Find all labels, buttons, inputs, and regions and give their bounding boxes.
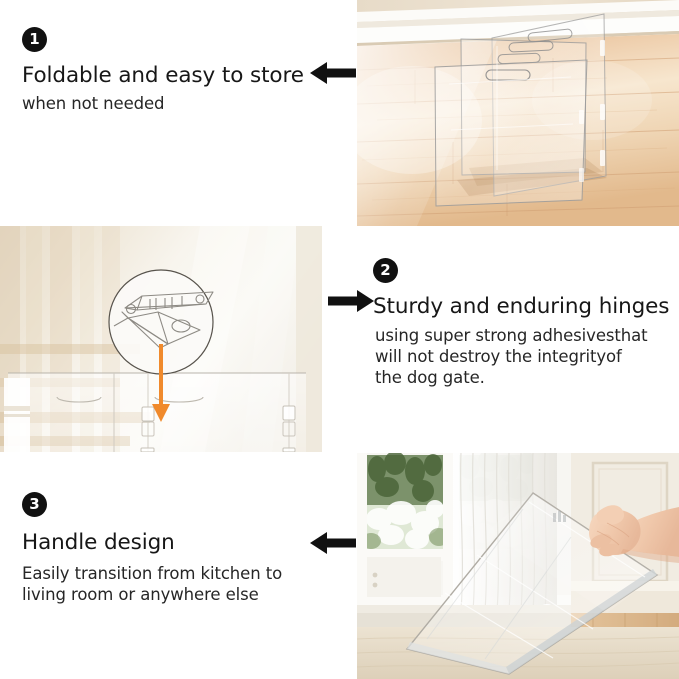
- feature-1-subline: when not needed: [22, 93, 304, 114]
- feature-2-subline: using super strong adhesivesthat will no…: [375, 325, 667, 388]
- feature-3-subline-line-1: Easily transition from kitchen to: [22, 563, 318, 584]
- feature-3-subline-line-2: living room or anywhere else: [22, 584, 318, 605]
- photo-folded-acrylic-panels: [357, 0, 679, 226]
- feature-1-headline: Foldable and easy to store: [22, 63, 304, 88]
- feature-3-headline: Handle design: [22, 530, 322, 555]
- feature-2-subline-line-2: will not destroy the integrityof: [375, 346, 667, 367]
- product-feature-collage: 1 Foldable and easy to store when not ne…: [0, 0, 679, 679]
- arrow-left-icon-feature-3: [310, 531, 356, 555]
- photo-hand-carrying-panel: [357, 453, 679, 679]
- feature-2-subline-line-1: using super strong adhesivesthat: [375, 325, 667, 346]
- feature-2-text-block: 2 Sturdy and enduring hinges using super…: [373, 258, 673, 388]
- feature-2-subline-line-3: the dog gate.: [375, 367, 667, 388]
- feature-3-subline: Easily transition from kitchen to living…: [22, 563, 318, 605]
- arrow-left-icon-feature-1: [310, 61, 356, 85]
- photo-hinge-closeup-callout: [0, 226, 322, 452]
- badge-number-three: 3: [22, 492, 47, 517]
- feature-1-text-block: 1 Foldable and easy to store when not ne…: [22, 27, 304, 114]
- badge-number-two: 2: [373, 258, 398, 283]
- feature-2-headline: Sturdy and enduring hinges: [373, 294, 673, 319]
- badge-number-one: 1: [22, 27, 47, 52]
- feature-3-text-block: 3 Handle design Easily transition from k…: [22, 492, 322, 605]
- arrow-right-icon-feature-2: [328, 289, 374, 313]
